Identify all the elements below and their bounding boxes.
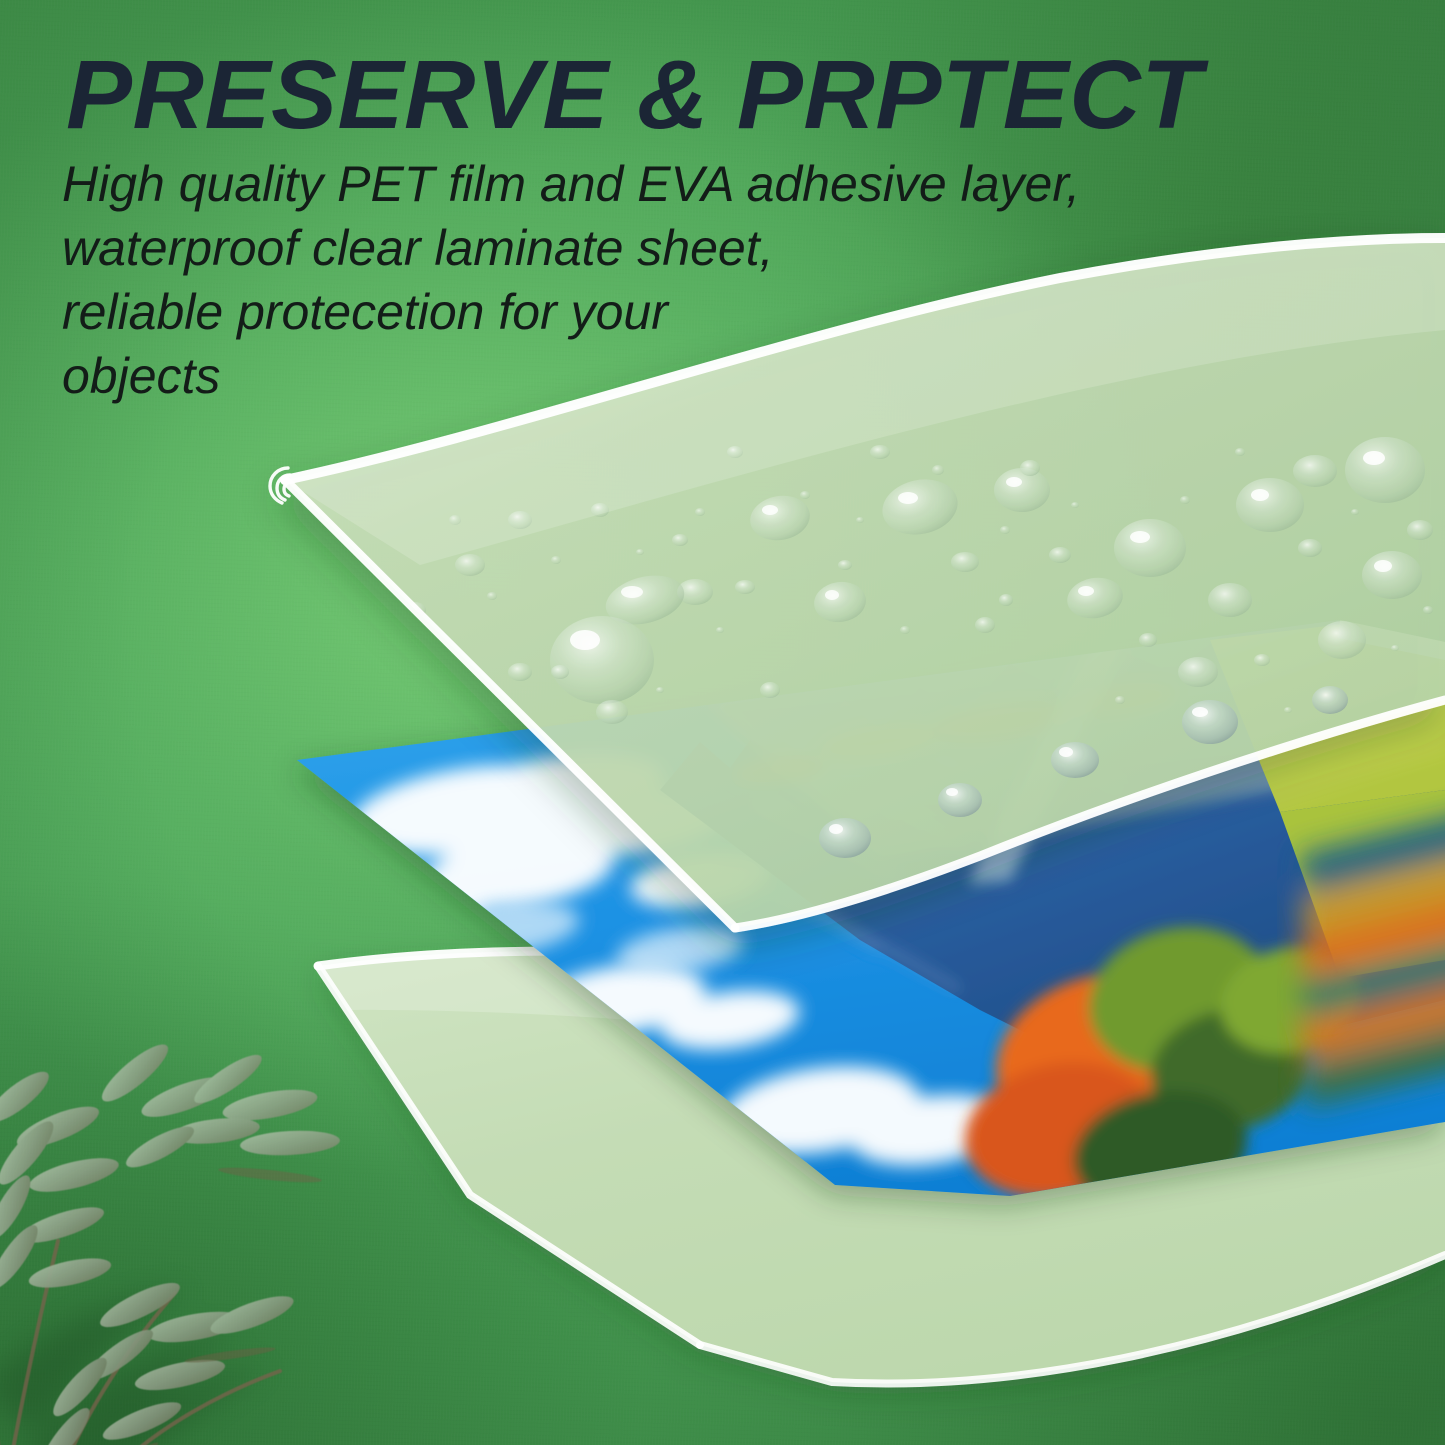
product-poster: PRESERVE & PRPTECT High quality PET film… [0,0,1445,1445]
page-title: PRESERVE & PRPTECT [66,46,1423,143]
description-line-3: reliable protecetion for your [62,280,1192,344]
description-line-2: waterproof clear laminate sheet, [62,216,1192,280]
description-line-4: objects [62,344,1192,408]
description-line-1: High quality PET film and EVA adhesive l… [62,152,1192,216]
foliage-branch [0,1035,390,1445]
product-description: High quality PET film and EVA adhesive l… [62,152,1192,408]
peel-corner-arcs-icon [248,448,312,520]
